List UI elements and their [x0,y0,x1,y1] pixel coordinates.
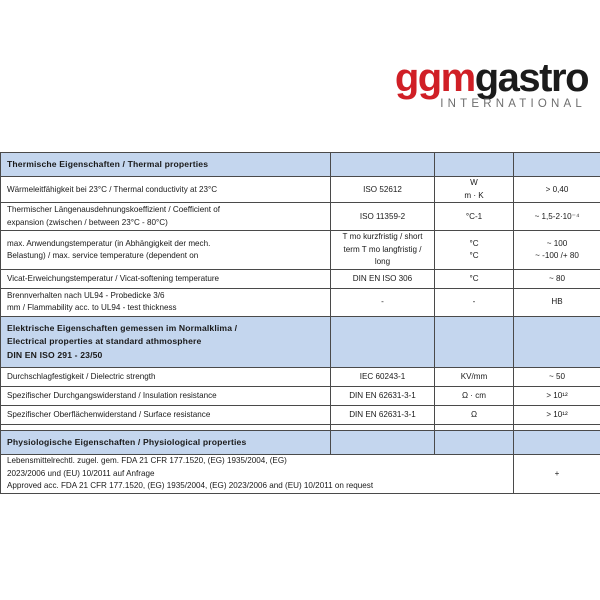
row-value: > 10¹² [514,405,600,424]
row-standard: IEC 60243-1 [331,367,435,386]
row-property: Wärmeleitfähigkeit bei 23°C / Thermal co… [1,177,331,203]
row-standard: T mo kurzfristig / shortterm T mo langfr… [331,231,435,270]
row-unit: °C°C [435,231,514,270]
table-row: Thermischer Längenausdehnungskoeffizient… [1,203,600,231]
section-title-thermal: Thermische Eigenschaften / Thermal prope… [1,153,331,177]
logo-subtitle: INTERNATIONAL [395,99,586,111]
table-row: Spezifischer Oberflächenwiderstand / Sur… [1,405,600,424]
row-property: Brennverhalten nach UL94 - Probedicke 3/… [1,288,331,316]
section-spacer-cell [435,430,514,454]
row-property: Lebensmittelrechtl. zugel. gem. FDA 21 C… [1,455,514,494]
row-unit: Ω [435,405,514,424]
section-spacer-cell [514,316,600,367]
row-value: + [514,455,600,494]
row-value: ~ 80 [514,269,600,288]
row-property: Spezifischer Durchgangswiderstand / Insu… [1,386,331,405]
table-row: Brennverhalten nach UL94 - Probedicke 3/… [1,288,600,316]
technical-properties-table: Thermische Eigenschaften / Thermal prope… [0,152,600,494]
section-header-electrical: Elektrische Eigenschaften gemessen im No… [1,316,600,367]
row-standard: ISO 52612 [331,177,435,203]
row-unit: Ω · cm [435,386,514,405]
section-spacer-cell [331,153,435,177]
table-row: Wärmeleitfähigkeit bei 23°C / Thermal co… [1,177,600,203]
row-standard: DIN EN 62631-3-1 [331,386,435,405]
section-title-electrical: Elektrische Eigenschaften gemessen im No… [1,316,331,367]
row-property: max. Anwendungstemperatur (in Abhängigke… [1,231,331,270]
logo-gastro-text: gastro [475,56,588,100]
row-value: ~ 100~ -100 /+ 80 [514,231,600,270]
spec-sheet: Thermische Eigenschaften / Thermal prope… [0,152,600,494]
row-unit: Wm · K [435,177,514,203]
row-property: Durchschlagfestigkeit / Dielectric stren… [1,367,331,386]
row-unit: °C-1 [435,203,514,231]
logo-ggm-text: ggm [395,56,475,100]
row-standard: ISO 11359-2 [331,203,435,231]
table-row: Durchschlagfestigkeit / Dielectric stren… [1,367,600,386]
section-header-physiological: Physiologische Eigenschaften / Physiolog… [1,430,600,454]
table-row: Spezifischer Durchgangswiderstand / Insu… [1,386,600,405]
logo-wordmark: ggmgastro [395,58,588,98]
table-row: Vicat-Erweichungstemperatur / Vicat-soft… [1,269,600,288]
row-property: Spezifischer Oberflächenwiderstand / Sur… [1,405,331,424]
section-spacer-cell [435,316,514,367]
row-standard: - [331,288,435,316]
section-spacer-cell [514,430,600,454]
row-unit: - [435,288,514,316]
row-value: ~ 50 [514,367,600,386]
section-spacer-cell [435,153,514,177]
row-property: Vicat-Erweichungstemperatur / Vicat-soft… [1,269,331,288]
section-spacer-cell [331,430,435,454]
section-header-thermal: Thermische Eigenschaften / Thermal prope… [1,153,600,177]
section-title-physiological: Physiologische Eigenschaften / Physiolog… [1,430,331,454]
brand-logo: ggmgastro INTERNATIONAL [395,58,588,111]
section-spacer-cell [331,316,435,367]
row-standard: DIN EN ISO 306 [331,269,435,288]
row-unit: °C [435,269,514,288]
row-unit: KV/mm [435,367,514,386]
row-value: > 10¹² [514,386,600,405]
section-spacer-cell [514,153,600,177]
row-value: HB [514,288,600,316]
row-value: > 0,40 [514,177,600,203]
table-body: Thermische Eigenschaften / Thermal prope… [1,153,600,494]
table-row: max. Anwendungstemperatur (in Abhängigke… [1,231,600,270]
row-value: ~ 1,5-2·10⁻⁴ [514,203,600,231]
row-property: Thermischer Längenausdehnungskoeffizient… [1,203,331,231]
table-row: Lebensmittelrechtl. zugel. gem. FDA 21 C… [1,455,600,494]
row-standard: DIN EN 62631-3-1 [331,405,435,424]
